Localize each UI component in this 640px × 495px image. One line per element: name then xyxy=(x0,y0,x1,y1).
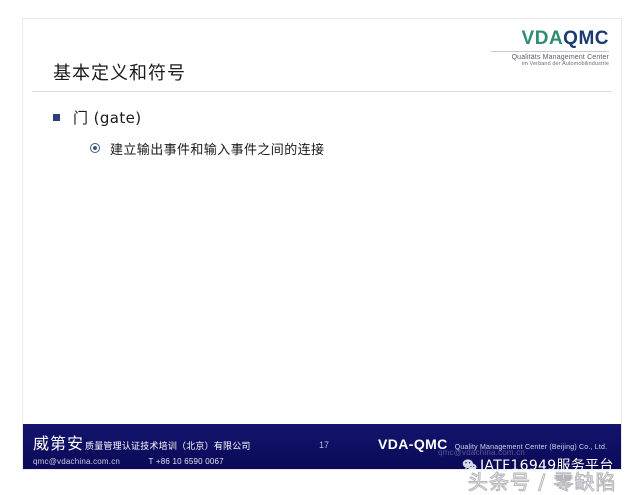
logo-subtitle-line1: Qualitäts Management Center xyxy=(491,54,609,61)
slide-footer: 威第安 质量管理认证技术培训（北京）有限公司 qmc@vdachina.com.… xyxy=(23,424,621,469)
slide-body: 门 (gate) 建立输出事件和输入事件之间的连接 xyxy=(53,107,601,158)
title-divider xyxy=(32,91,612,92)
logo-divider xyxy=(491,51,609,52)
watermark-outline-text: 头条号 / 零缺陷 xyxy=(468,466,616,495)
presentation-slide: VDAQMC Qualitäts Management Center im Ve… xyxy=(22,18,622,470)
footer-company-short: VDA-QMC xyxy=(378,436,448,452)
footer-company-chinese: 威第安 质量管理认证技术培训（北京）有限公司 xyxy=(33,430,251,454)
logo-vda-text: VDA xyxy=(522,28,564,49)
logo-qmc-text: QMC xyxy=(563,28,609,49)
footer-contact-line: qmc@vdachina.com.cn T +86 10 6590 0067 xyxy=(33,457,251,466)
bullet-level2-text: 建立输出事件和输入事件之间的连接 xyxy=(110,139,324,158)
logo-wordmark: VDAQMC xyxy=(491,29,609,48)
footer-phone: T +86 10 6590 0067 xyxy=(149,457,224,466)
circle-dot-bullet-icon xyxy=(90,143,100,153)
footer-company-block: 威第安 质量管理认证技术培训（北京）有限公司 qmc@vdachina.com.… xyxy=(33,430,251,466)
list-item: 建立输出事件和输入事件之间的连接 xyxy=(90,139,601,158)
footer-brand-subtitle: 质量管理认证技术培训（北京）有限公司 xyxy=(85,439,251,452)
footer-company-long: Quality Management Center (Beijing) Co.,… xyxy=(455,444,608,451)
bullet-level1-text: 门 (gate) xyxy=(73,107,142,128)
list-item: 门 (gate) xyxy=(53,107,601,128)
slide-page-number: 17 xyxy=(319,440,329,450)
footer-email[interactable]: qmc@vdachina.com.cn xyxy=(33,457,120,466)
logo-subtitle-line2: im Verband der Automobilindustrie xyxy=(491,62,609,68)
vda-qmc-logo: VDAQMC Qualitäts Management Center im Ve… xyxy=(491,29,609,68)
square-bullet-icon xyxy=(53,114,60,121)
slide-title: 基本定义和符号 xyxy=(53,59,186,85)
footer-brand-name: 威第安 xyxy=(33,430,84,454)
footer-company-english: VDA-QMC Quality Management Center (Beiji… xyxy=(378,436,607,452)
